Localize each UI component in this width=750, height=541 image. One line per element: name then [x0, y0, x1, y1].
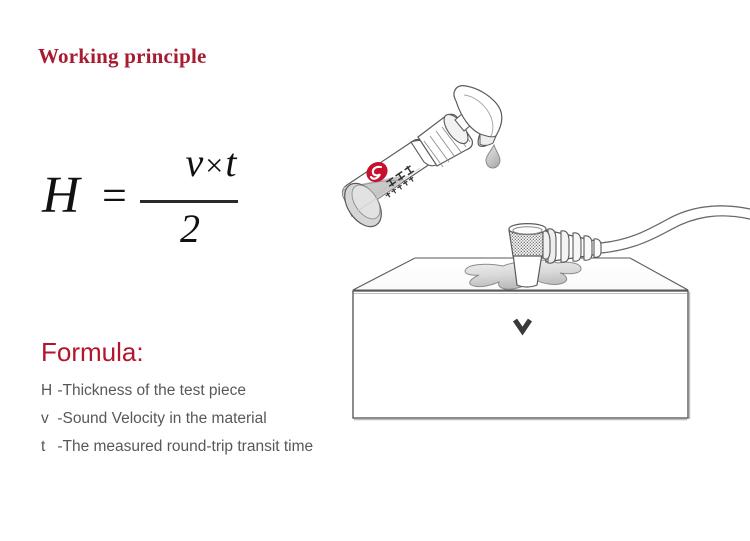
legend-item-t: t -The measured round-trip transit time: [41, 433, 441, 461]
formula-variable-h: H: [42, 170, 80, 222]
couplant-droplet: [486, 145, 500, 168]
bottle-base-inner: [346, 180, 385, 224]
bottle-cap-ribs: [424, 118, 470, 167]
probe-lower-body: [513, 254, 542, 287]
pump-spout-highlight: [464, 95, 493, 138]
test-block-top-face: [353, 258, 688, 290]
sound-path-arrow: [515, 320, 530, 331]
formula-numerator-t: t: [225, 140, 236, 185]
pump-spout-tip: [480, 134, 496, 145]
formula-multiply-sign: ×: [203, 147, 225, 183]
legend-symbol-t: t: [41, 433, 53, 461]
formula-equals-sign: =: [102, 174, 127, 218]
probe-cable: [601, 206, 750, 253]
page-title: Working principle: [38, 44, 207, 69]
working-principle-slide: Working principle H = v×t 2 Formula: H -…: [0, 0, 750, 541]
probe-strain-relief: [546, 229, 601, 263]
formula-numerator-v: v: [186, 140, 204, 185]
probe-top-rim-outer: [509, 224, 546, 235]
bottle-body: [343, 139, 437, 216]
legend-description-t: -The measured round-trip transit time: [57, 438, 313, 455]
formula-numerator: v×t: [144, 138, 278, 188]
pump-stem: [455, 107, 479, 131]
legend-symbol-v: v: [41, 405, 53, 433]
couplant-bottle: [330, 86, 502, 234]
ultrasonic-probe: [509, 224, 550, 287]
legend-item-v: v -Sound Velocity in the material: [41, 405, 441, 433]
probe-knurled-band: [509, 230, 546, 256]
formula-legend: Formula: H -Thickness of the test piece …: [41, 336, 441, 461]
legend-heading: Formula:: [41, 336, 441, 369]
couplant-puddle: [465, 260, 581, 289]
legend-description-h: -Thickness of the test piece: [57, 382, 246, 399]
legend-symbol-h: H: [41, 377, 53, 405]
legend-item-h: H -Thickness of the test piece: [41, 377, 441, 405]
bottle-base: [337, 177, 389, 234]
bottle-cap: [418, 114, 472, 166]
pump-spout: [454, 86, 502, 147]
bottle-shoulder: [411, 140, 441, 165]
probe-top-rim-inner: [513, 227, 542, 234]
formula-denominator: 2: [144, 204, 236, 254]
thickness-formula: H = v×t 2: [40, 136, 310, 266]
bottle-cap-top-rim: [440, 111, 473, 148]
probe-collar: [543, 231, 550, 259]
bottle-label-text: [385, 164, 415, 198]
formula-fraction-bar: [140, 200, 238, 203]
bottle-logo: [363, 158, 392, 186]
bottle-body-highlight: [355, 168, 420, 213]
legend-description-v: -Sound Velocity in the material: [57, 410, 266, 427]
bottle-liquid: [330, 176, 412, 232]
